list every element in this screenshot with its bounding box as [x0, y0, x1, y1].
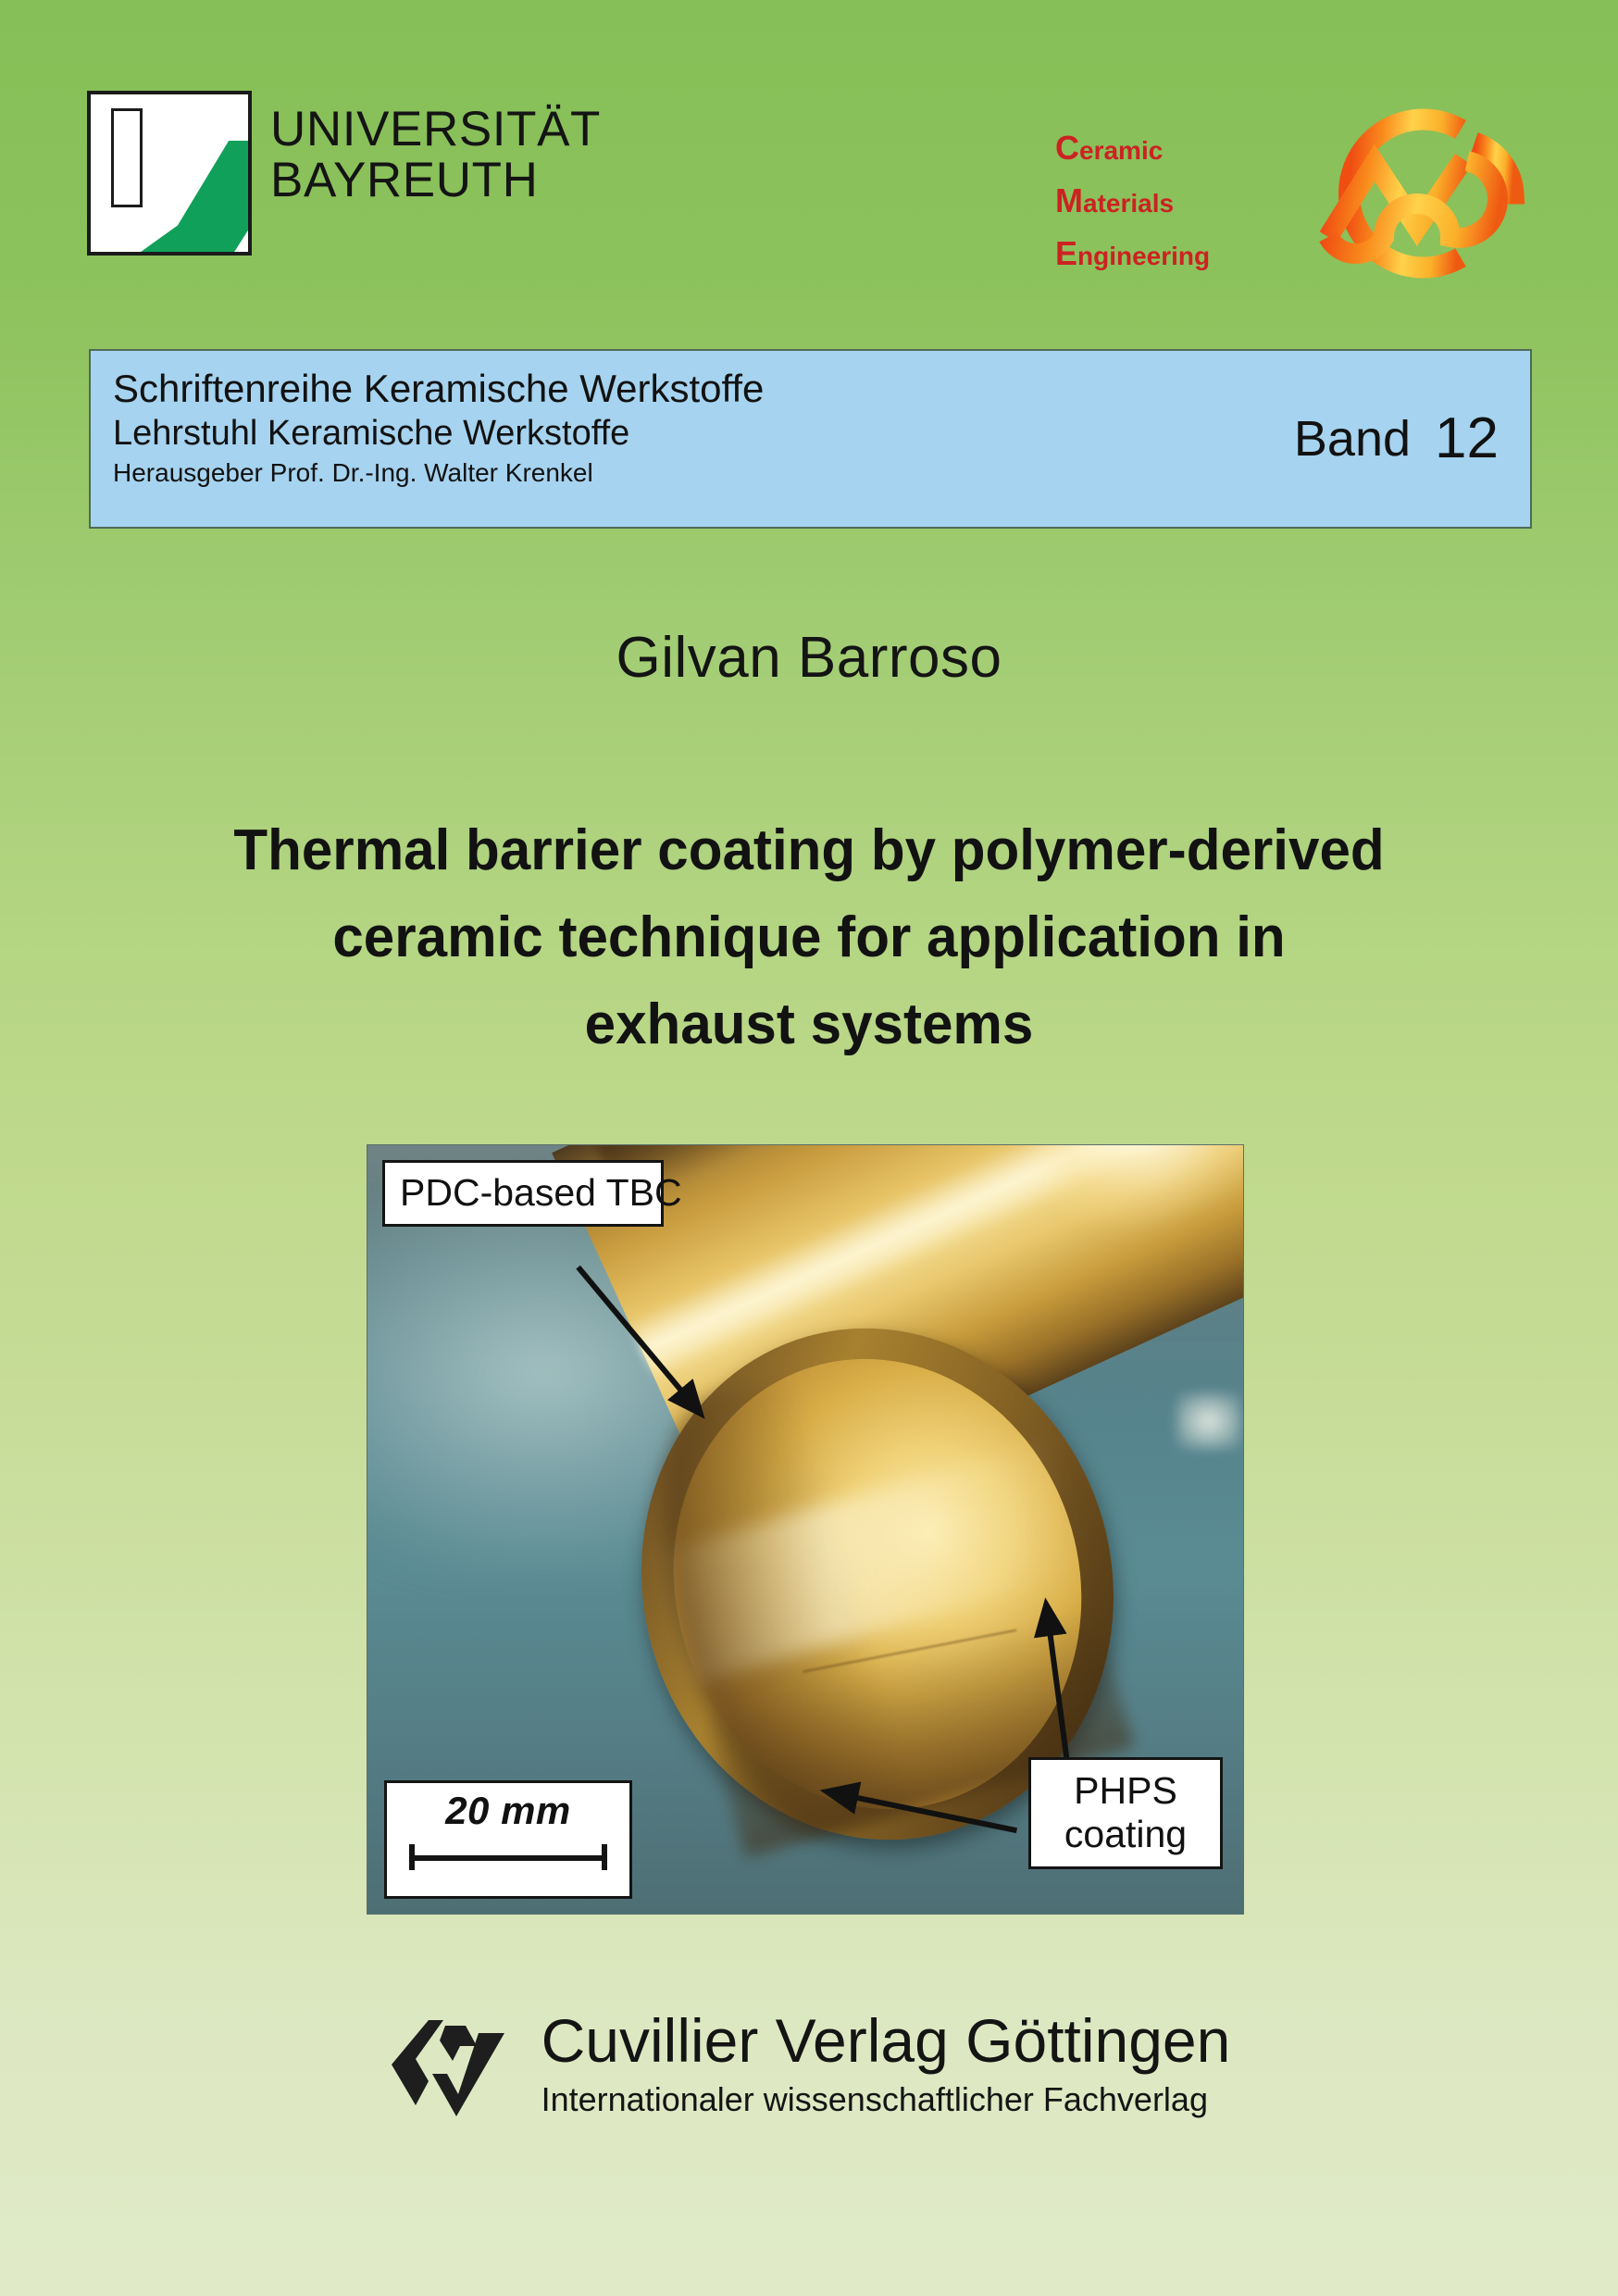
ceramic-materials-engineering-logo: Ceramic Materials Engineering: [1055, 117, 1537, 269]
publisher-block: Cuvillier Verlag Göttingen International…: [0, 2007, 1618, 2120]
scale-bar-cap-right: [602, 1844, 607, 1870]
publisher-tagline: Internationaler wissenschaftlicher Fachv…: [541, 2076, 1231, 2119]
series-title: Schriftenreihe Keramische Werkstoffe: [113, 366, 1294, 412]
series-subtitle: Lehrstuhl Keramische Werkstoffe: [113, 412, 1294, 455]
ubt-wordmark-line1: UNIVERSITÄT: [270, 104, 601, 155]
photo-specular-highlight: [1176, 1393, 1241, 1449]
band-label: Band: [1294, 414, 1411, 464]
title-line-1: Thermal barrier coating by polymer-deriv…: [132, 807, 1487, 894]
callout-phps-line1: PHPS: [1042, 1769, 1209, 1814]
scale-bar-rule: [405, 1844, 611, 1870]
ubt-logo-mark: [87, 91, 252, 256]
scale-bar-label: 20 mm: [400, 1791, 616, 1831]
book-title: Thermal barrier coating by polymer-deriv…: [132, 807, 1487, 1069]
series-banner: Schriftenreihe Keramische Werkstoffe Leh…: [89, 349, 1532, 529]
scale-bar: 20 mm: [384, 1780, 632, 1899]
publisher-name: Cuvillier Verlag Göttingen: [541, 2007, 1231, 2076]
series-editor: Herausgeber Prof. Dr.-Ing. Walter Krenke…: [113, 455, 1294, 490]
cover-photograph: PDC-based TBC PHPS coating 20 mm: [367, 1144, 1244, 1915]
callout-pdc-based-tbc: PDC-based TBC: [382, 1160, 664, 1227]
scale-bar-line: [409, 1855, 607, 1861]
author-name: Gilvan Barroso: [0, 625, 1618, 691]
band-info: Band 12: [1294, 351, 1530, 527]
callout-phps-coating: PHPS coating: [1028, 1757, 1223, 1869]
publisher-text: Cuvillier Verlag Göttingen International…: [541, 2007, 1231, 2119]
ubt-wordmark: UNIVERSITÄT BAYREUTH: [270, 104, 601, 206]
cuvillier-verlag-logo-icon: [388, 2016, 517, 2120]
universitaet-bayreuth-logo: [87, 91, 252, 256]
title-line-2: ceramic technique for application in: [132, 894, 1487, 981]
ubt-wordmark-line2: BAYREUTH: [270, 155, 601, 206]
title-line-3: exhaust systems: [132, 981, 1487, 1068]
ubt-vertical-bar: [111, 108, 143, 207]
callout-phps-line2: coating: [1042, 1813, 1209, 1857]
cme-infinity-icon: [1236, 106, 1541, 281]
series-banner-text: Schriftenreihe Keramische Werkstoffe Leh…: [91, 351, 1294, 527]
book-cover: UNIVERSITÄT BAYREUTH Ceramic Materials E…: [0, 0, 1618, 2296]
band-number: 12: [1435, 410, 1499, 468]
